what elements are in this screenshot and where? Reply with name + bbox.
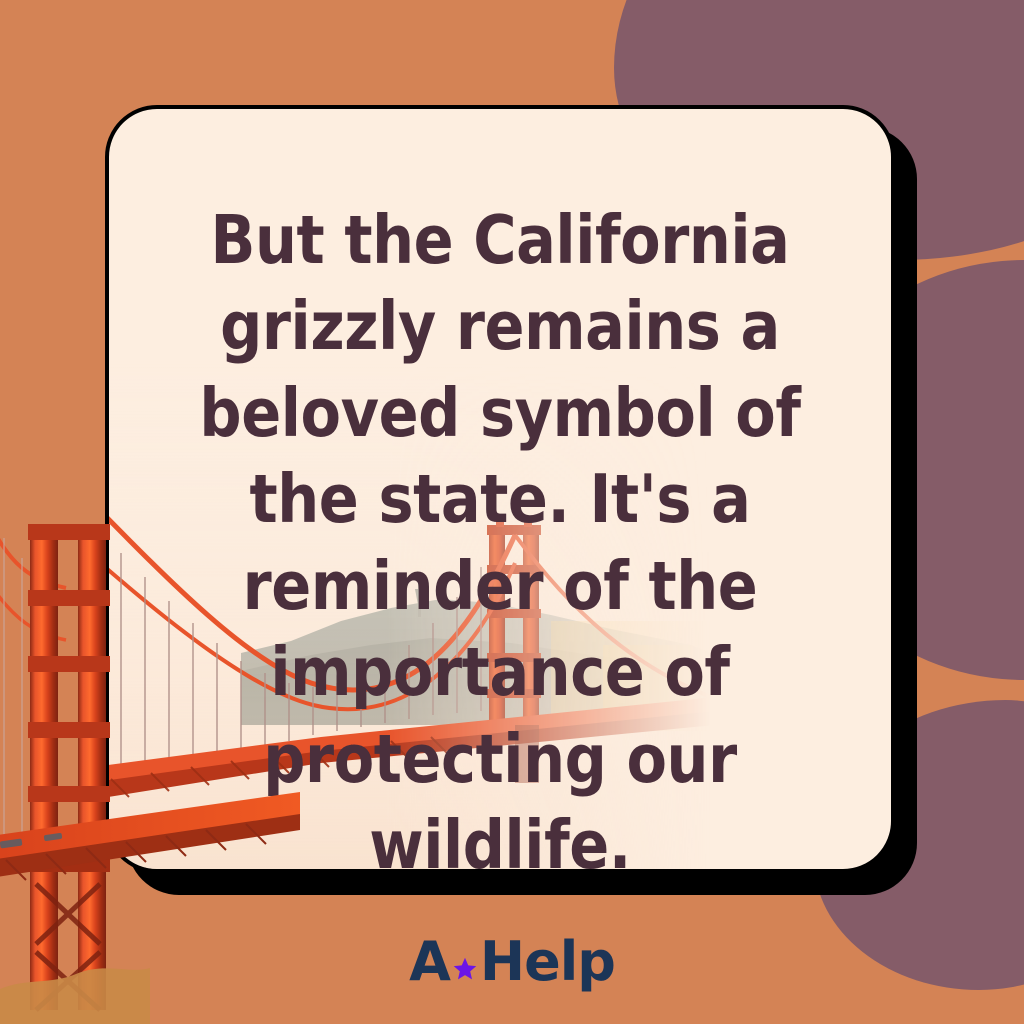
brand-logo-inner: A Help [409, 930, 615, 993]
star-icon [452, 932, 478, 995]
logo-letter-a: A [409, 930, 450, 993]
quote-text-container: But the California grizzly remains a bel… [109, 109, 891, 869]
brand-logo[interactable]: A Help [0, 930, 1024, 993]
quote-text: But the California grizzly remains a bel… [183, 197, 817, 873]
poster-canvas: But the California grizzly remains a bel… [0, 0, 1024, 1024]
quote-card: But the California grizzly remains a bel… [105, 105, 895, 873]
logo-word-help: Help [480, 930, 615, 993]
